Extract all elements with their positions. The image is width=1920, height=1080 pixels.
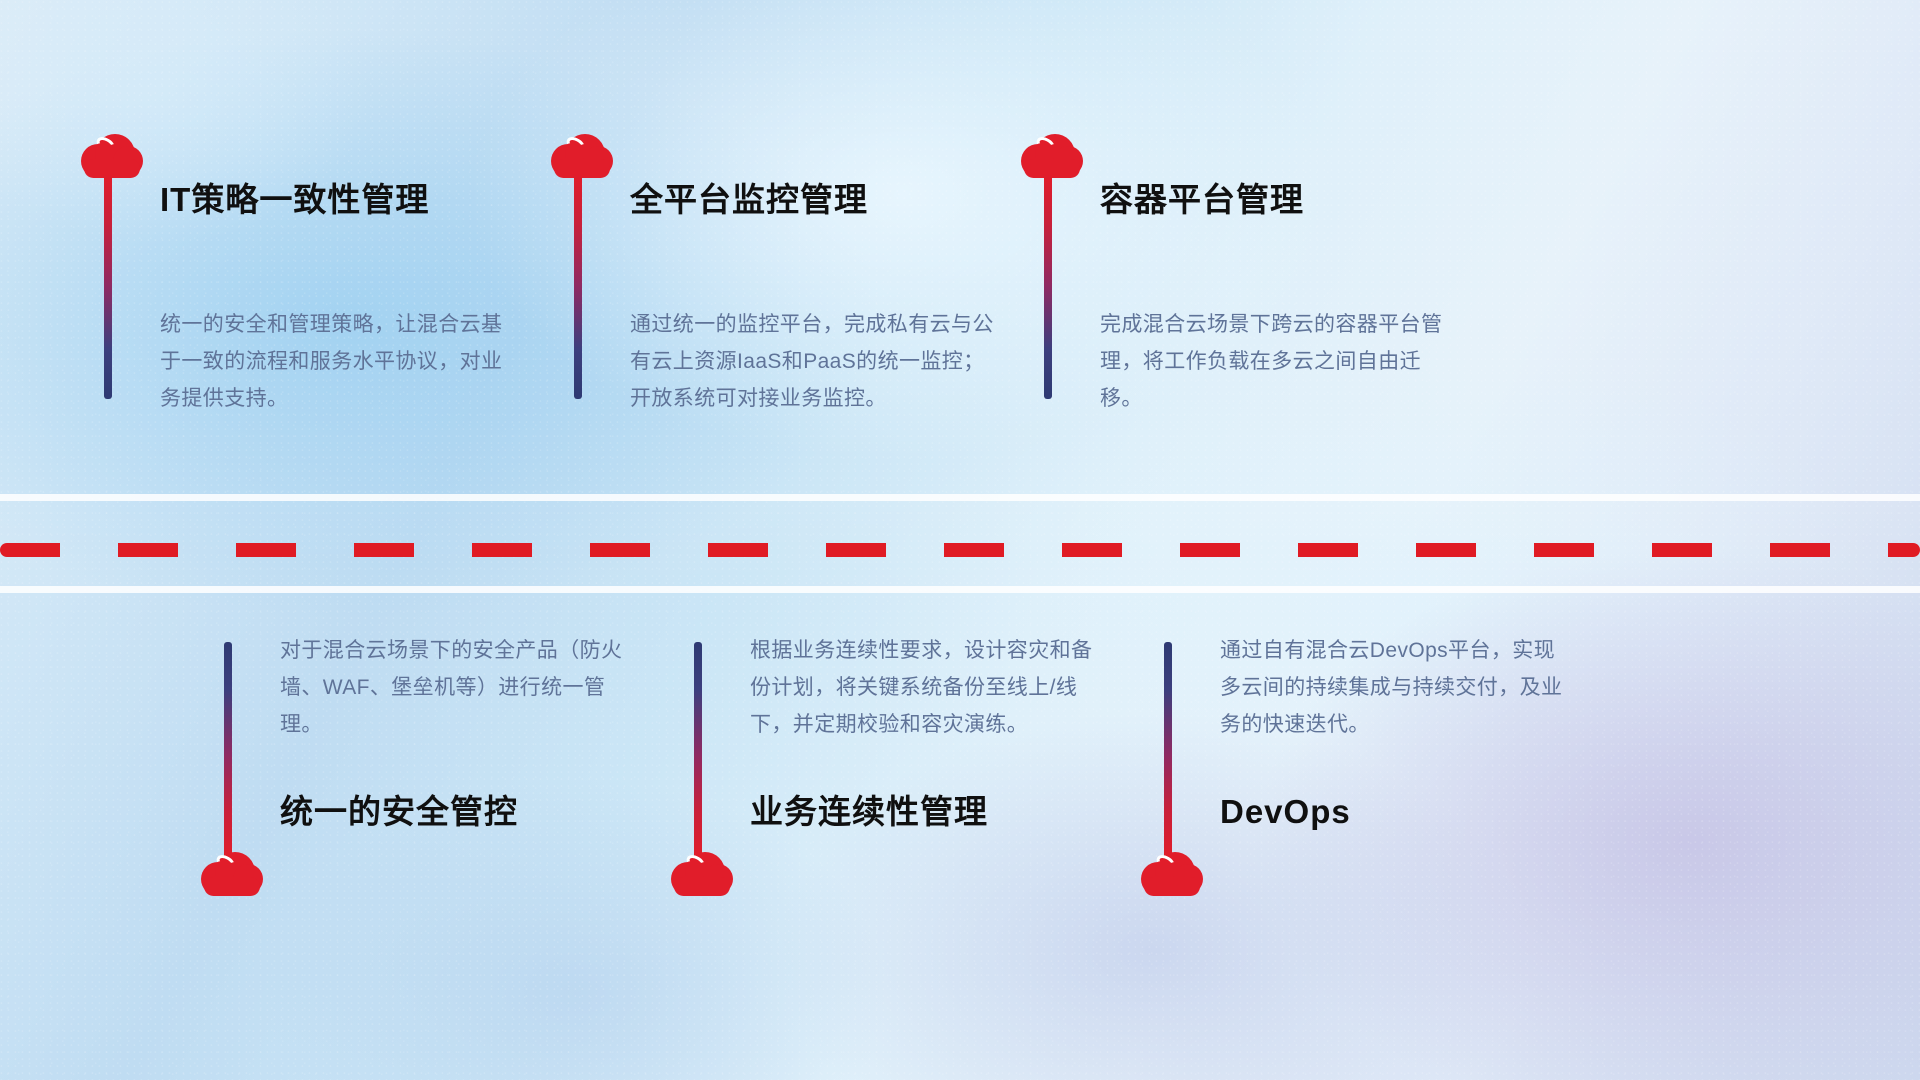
feature-title: 业务连续性管理 (750, 794, 988, 830)
cloud-icon (1021, 134, 1083, 178)
feature-title: DevOps (1220, 794, 1351, 830)
road-edge-line-top (0, 494, 1920, 501)
feature-title: 统一的安全管控 (280, 794, 518, 830)
feature-description: 对于混合云场景下的安全产品（防火墙、WAF、堡垒机等）进行统一管理。 (280, 632, 632, 743)
feature-title: 容器平台管理 (1100, 182, 1304, 218)
feature-description: 完成混合云场景下跨云的容器平台管理，将工作负载在多云之间自由迁移。 (1100, 306, 1452, 417)
pin-stem (104, 174, 112, 399)
feature-description: 根据业务连续性要求，设计容灾和备份计划，将关键系统备份至线上/线下，并定期校验和… (750, 632, 1102, 743)
feature-description: 统一的安全和管理策略，让混合云基于一致的流程和服务水平协议，对业务提供支持。 (160, 306, 512, 417)
cloud-icon (201, 852, 263, 896)
cloud-icon (671, 852, 733, 896)
road-edge-line-bottom (0, 586, 1920, 593)
feature-description: 通过统一的监控平台，完成私有云与公有云上资源IaaS和PaaS的统一监控；开放系… (630, 306, 1002, 417)
feature-title: IT策略一致性管理 (160, 182, 429, 218)
pin-stem (574, 174, 582, 399)
pin-stem (224, 642, 232, 858)
pin-stem (1044, 174, 1052, 399)
pin-stem (694, 642, 702, 858)
feature-description: 通过自有混合云DevOps平台，实现多云间的持续集成与持续交付，及业务的快速迭代… (1220, 632, 1572, 743)
feature-title: 全平台监控管理 (630, 182, 868, 218)
road-dashed-center-line (0, 543, 1920, 557)
cloud-icon (551, 134, 613, 178)
cloud-icon (1141, 852, 1203, 896)
pin-stem (1164, 642, 1172, 858)
cloud-icon (81, 134, 143, 178)
